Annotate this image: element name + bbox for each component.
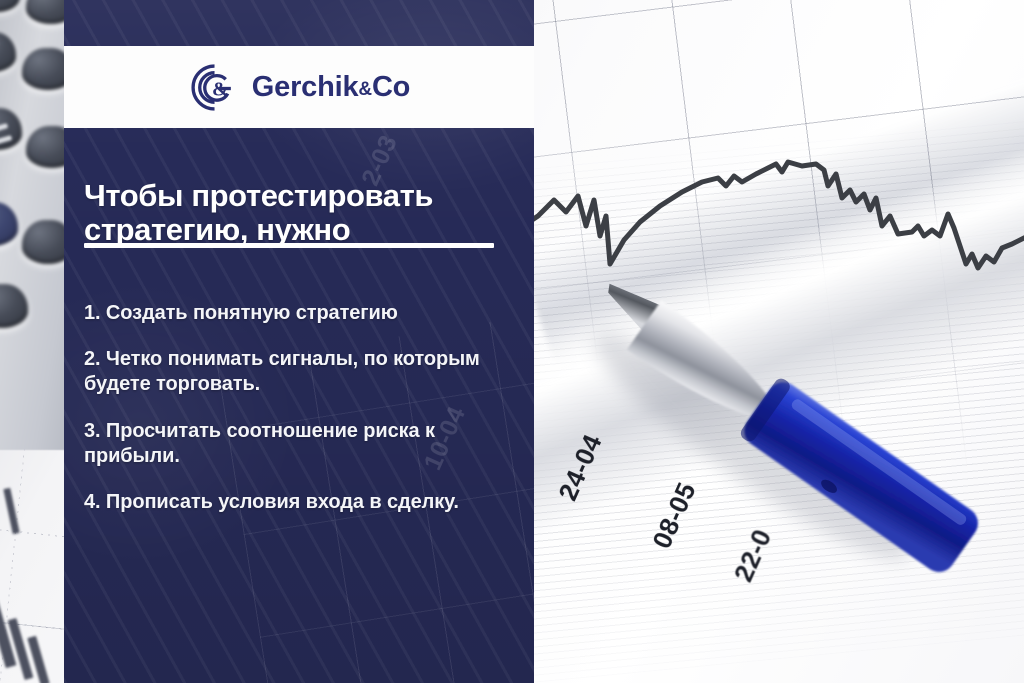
ballpoint-pen [560, 250, 1024, 680]
logo-band: & Gerchik&Co [64, 46, 534, 128]
logo-wordmark: Gerchik&Co [252, 73, 410, 102]
list-item: 3. Просчитать соотношение риска к прибыл… [84, 419, 514, 469]
title-divider [84, 243, 494, 248]
headline-line-1: Чтобы протестировать [84, 178, 433, 213]
logo-word-part1: Gerchik [252, 71, 359, 103]
steps-list: 1. Создать понятную стратегию 2. Четко п… [84, 281, 514, 535]
list-item: 2. Четко понимать сигналы, по которым бу… [84, 347, 514, 397]
content-panel: 2-03 10-04 & Gerchik&Co Чтобы протестиро… [64, 0, 534, 683]
logo-word-part2: Co [372, 71, 410, 103]
list-item: 1. Создать понятную стратегию [84, 301, 514, 326]
page-title: Чтобы протестироватьстратегию, нужно [84, 179, 524, 248]
logo-ampersand: & [358, 79, 372, 100]
poster-canvas: 2-03 10-04 & Gerchik&Co Чтобы протестиро… [0, 0, 1024, 683]
list-item: 4. Прописать условия входа в сделку. [84, 490, 514, 515]
svg-text:&: & [212, 78, 229, 100]
gerchik-monogram-icon: & [188, 62, 239, 113]
